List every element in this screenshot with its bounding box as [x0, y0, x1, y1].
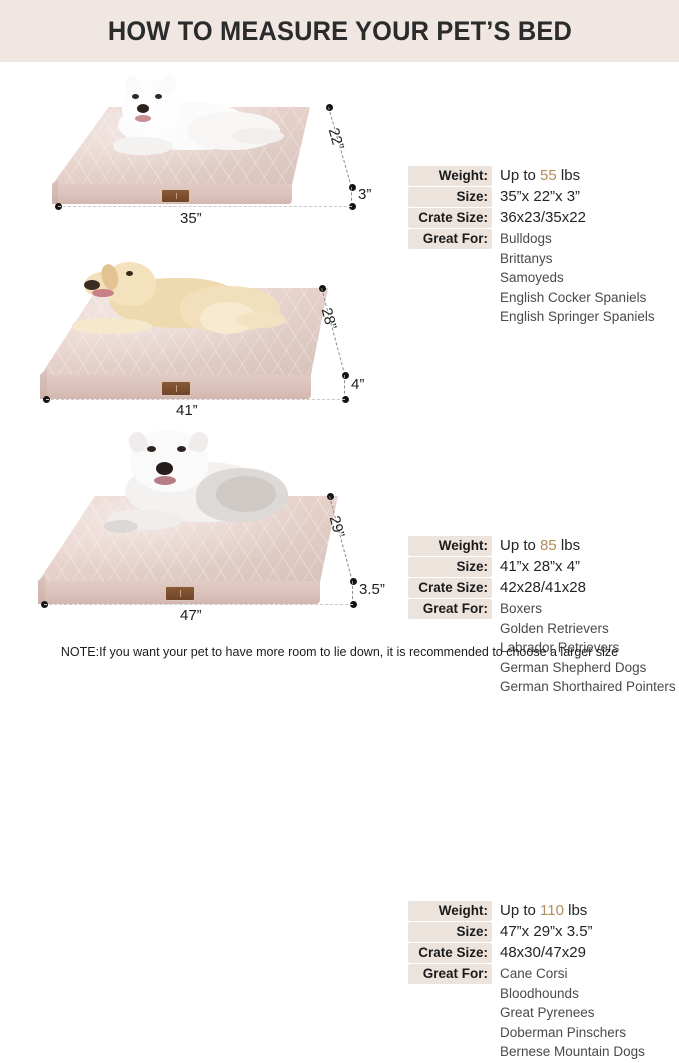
bed-row-large: 29” 3.5” 47” Weight: Up to 110 lbs Size:… — [0, 420, 679, 635]
dim-label-height: 3” — [358, 186, 371, 203]
dim-line-width — [46, 399, 345, 400]
breed-list: Cane Corsi Bloodhounds Great Pyrenees Do… — [492, 964, 645, 1062]
breed-item: Great Pyrenees — [500, 1003, 645, 1023]
dim-label-width: 35” — [180, 210, 202, 227]
dim-dot-depth-bottom — [342, 372, 349, 379]
spec-row-weight: Weight: Up to 55 lbs — [408, 166, 655, 186]
brand-tag — [161, 381, 191, 396]
page-header: HOW TO MEASURE YOUR PET’S BED — [0, 0, 679, 62]
spec-label-crate: Crate Size: — [408, 208, 492, 228]
bed-illustration-small: 22” 3” 35” — [0, 62, 400, 240]
spec-label-crate: Crate Size: — [408, 943, 492, 963]
dim-line-width — [44, 604, 353, 605]
bed-illustration-large: 29” 3.5” 47” — [0, 420, 400, 635]
page-title: HOW TO MEASURE YOUR PET’S BED — [107, 16, 571, 47]
weight-unit: lbs — [568, 902, 587, 919]
spec-row-crate: Crate Size: 36x23/35x22 — [408, 208, 655, 228]
breed-item: Bernese Mountain Dogs — [500, 1042, 645, 1062]
spec-row-great-for: Great For: Cane Corsi Bloodhounds Great … — [408, 964, 645, 1062]
spec-label-size: Size: — [408, 187, 492, 207]
dim-label-height: 3.5” — [359, 581, 385, 598]
spec-label-weight: Weight: — [408, 166, 492, 186]
dim-label-depth: 22” — [325, 126, 347, 152]
bed-row-small: 22” 3” 35” Weight: Up to 55 lbs Size: 35… — [0, 62, 679, 240]
bed-row-medium: 28” 4” 41” Weight: Up to 85 lbs Size: 41… — [0, 240, 679, 420]
dim-dot-depth-bottom — [350, 578, 357, 585]
bed-left-band — [40, 370, 47, 399]
dim-label-width: 47” — [180, 607, 202, 624]
weight-unit: lbs — [561, 167, 580, 184]
breed-item: German Shepherd Dogs — [500, 658, 676, 678]
spec-row-crate: Crate Size: 48x30/47x29 — [408, 943, 645, 963]
breed-item: Bloodhounds — [500, 984, 645, 1004]
spec-value-weight: Up to 110 lbs — [492, 901, 587, 921]
breed-item: Cane Corsi — [500, 964, 645, 984]
spec-value-crate: 36x23/35x22 — [492, 208, 586, 228]
bed-left-band — [52, 180, 58, 204]
brand-tag — [161, 189, 190, 203]
footer-note: NOTE:If you want your pet to have more r… — [0, 645, 679, 659]
spec-row-weight: Weight: Up to 110 lbs — [408, 901, 645, 921]
spec-label-size: Size: — [408, 922, 492, 942]
dim-dot-depth-bottom — [349, 184, 356, 191]
spec-table-large: Weight: Up to 110 lbs Size: 47”x 29”x 3.… — [408, 901, 645, 1063]
weight-number: 110 — [540, 902, 564, 919]
dim-line-width — [58, 206, 352, 207]
bed-illustration-medium: 28” 4” 41” — [0, 240, 400, 420]
spec-value-weight: Up to 55 lbs — [492, 166, 580, 186]
weight-prefix: Up to — [500, 902, 536, 919]
breed-item: German Shorthaired Pointers — [500, 677, 676, 697]
spec-row-size: Size: 47”x 29”x 3.5” — [408, 922, 645, 942]
spec-label-weight: Weight: — [408, 901, 492, 921]
spec-row-size: Size: 35”x 22”x 3” — [408, 187, 655, 207]
breed-item: Doberman Pinschers — [500, 1023, 645, 1043]
spec-value-size: 35”x 22”x 3” — [492, 187, 580, 207]
spec-label-great-for: Great For: — [408, 964, 492, 984]
dim-label-height: 4” — [351, 376, 364, 393]
spec-value-size: 47”x 29”x 3.5” — [492, 922, 593, 942]
dim-label-width: 41” — [176, 402, 198, 419]
weight-number: 55 — [540, 167, 557, 184]
brand-tag — [165, 586, 195, 601]
spec-value-crate: 48x30/47x29 — [492, 943, 586, 963]
weight-prefix: Up to — [500, 167, 536, 184]
bed-left-band — [38, 576, 45, 604]
